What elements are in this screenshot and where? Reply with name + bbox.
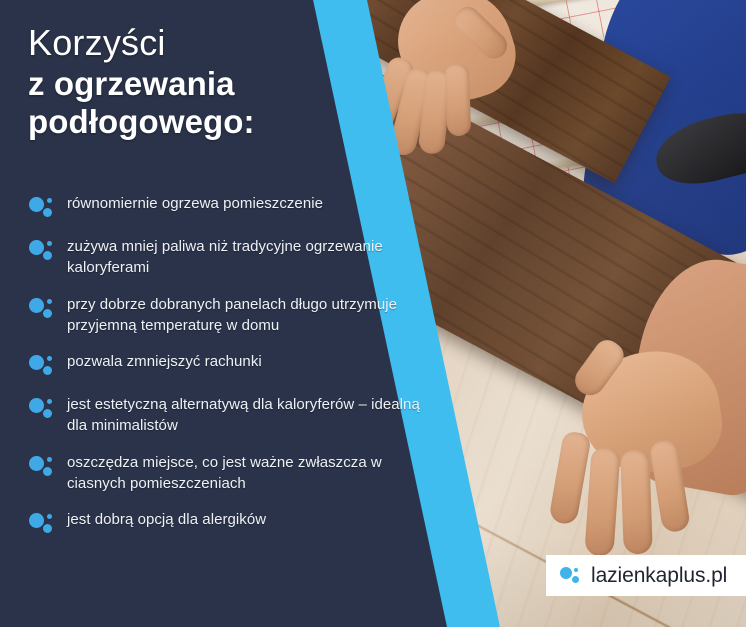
brand-logo-badge[interactable]: lazienkaplus.pl [546, 555, 746, 596]
bubbles-icon [560, 565, 584, 586]
list-item: jest dobrą opcją dla alergików [28, 509, 428, 537]
list-item: przy dobrze dobranych panelach długo utr… [28, 294, 428, 337]
list-item: pozwala zmniejszyć rachunki [28, 351, 428, 379]
bubbles-icon [28, 353, 58, 379]
bubbles-icon [28, 454, 58, 480]
hand-finger [445, 64, 471, 137]
list-item-label: pozwala zmniejszyć rachunki [58, 351, 262, 372]
title-line-2: z ogrzewania [28, 65, 255, 103]
hand-finger [584, 447, 620, 557]
title-line-1: Korzyści [28, 22, 255, 63]
brand-name: lazienkaplus.pl [591, 564, 727, 588]
bubbles-icon [28, 396, 58, 422]
list-item: równomiernie ogrzewa pomieszczenie [28, 193, 428, 221]
content-column: Korzyści z ogrzewania podłogowego: równo… [0, 0, 440, 627]
list-item-label: oszczędza miejsce, co jest ważne zwłaszc… [58, 452, 428, 495]
list-item-label: jest estetyczną alternatywą dla kaloryfe… [58, 394, 428, 437]
bubbles-icon [28, 296, 58, 322]
title-line-3: podłogowego: [28, 103, 255, 141]
hand-finger [548, 430, 592, 525]
list-item-label: przy dobrze dobranych panelach długo utr… [58, 294, 428, 337]
list-item-label: jest dobrą opcją dla alergików [58, 509, 266, 530]
benefits-list: równomiernie ogrzewa pomieszczenie zużyw… [28, 193, 428, 537]
hand-finger [620, 450, 653, 555]
bubbles-icon [28, 238, 58, 264]
bubbles-icon [28, 195, 58, 221]
worker-hand-lower [540, 352, 730, 572]
list-item-label: równomiernie ogrzewa pomieszczenie [58, 193, 323, 214]
list-item: jest estetyczną alternatywą dla kaloryfe… [28, 394, 428, 437]
page-title: Korzyści z ogrzewania podłogowego: [28, 22, 255, 140]
list-item: zużywa mniej paliwa niż tradycyjne ogrze… [28, 236, 428, 279]
list-item: oszczędza miejsce, co jest ważne zwłaszc… [28, 452, 428, 495]
bubbles-icon [28, 511, 58, 537]
list-item-label: zużywa mniej paliwa niż tradycyjne ogrze… [58, 236, 428, 279]
infographic-root: Korzyści z ogrzewania podłogowego: równo… [0, 0, 746, 627]
